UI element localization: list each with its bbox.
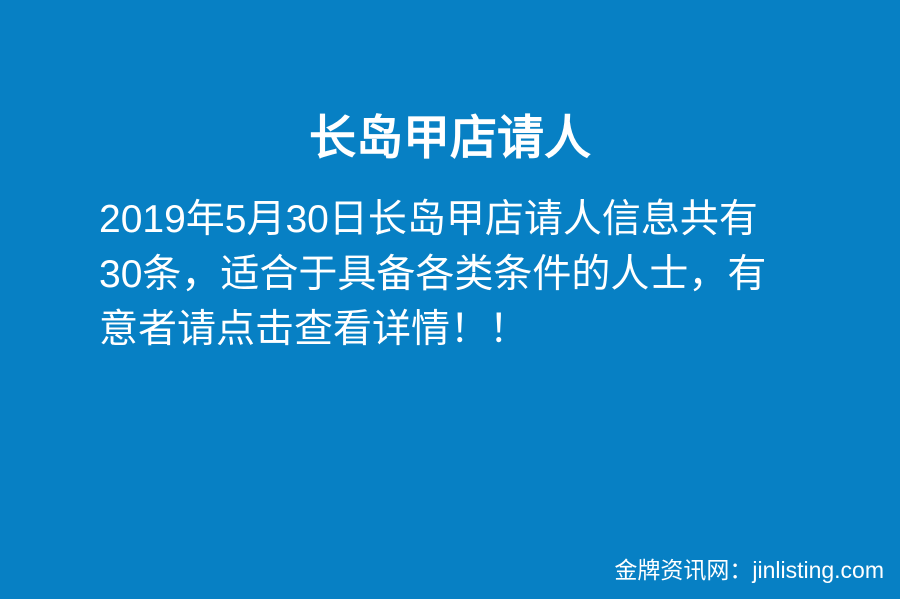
poster-canvas: 长岛甲店请人 2019年5月30日长岛甲店请人信息共有 30条，适合于具备各类条…: [0, 0, 900, 599]
poster-body-text: 2019年5月30日长岛甲店请人信息共有 30条，适合于具备各类条件的人士，有 …: [99, 192, 819, 357]
body-line-3: 意者请点击查看详情！！: [99, 302, 819, 357]
body-line-2: 30条，适合于具备各类条件的人士，有: [99, 247, 819, 302]
page-title: 长岛甲店请人: [0, 113, 900, 164]
site-watermark: 金牌资讯网：jinlisting.com: [614, 556, 884, 585]
body-line-1: 2019年5月30日长岛甲店请人信息共有: [99, 192, 819, 247]
